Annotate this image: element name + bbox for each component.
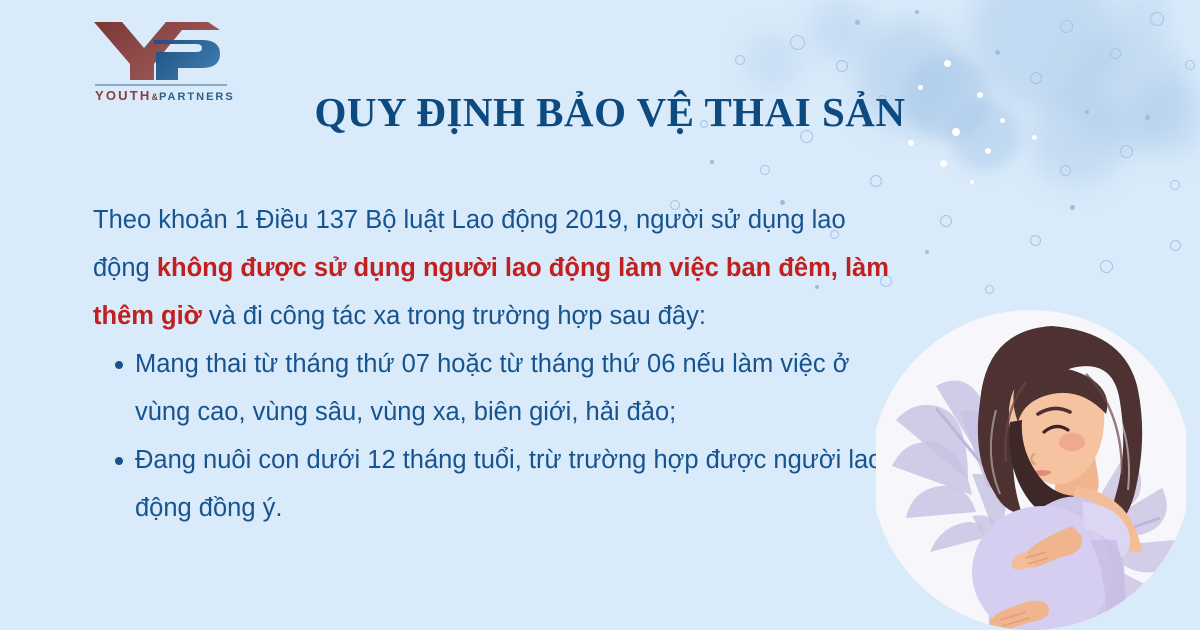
list-item-label: Đang nuôi con dưới 12 tháng tuổi, trừ tr… (135, 446, 882, 522)
list-item: Đang nuôi con dưới 12 tháng tuổi, trừ tr… (93, 436, 893, 532)
intro-paragraph: Theo khoản 1 Điều 137 Bộ luật Lao động 2… (93, 196, 893, 340)
pregnant-woman-illustration (876, 290, 1186, 630)
bullet-icon (115, 361, 123, 369)
logo-divider (95, 84, 227, 86)
logo-wordmark-youth: YOUTH (95, 88, 152, 103)
logo-wordmark-amp: & (152, 92, 160, 102)
bullet-icon (115, 457, 123, 465)
intro-text-part2: và đi công tác xa trong trường hợp sau đ… (202, 302, 706, 330)
list-item-label: Mang thai từ tháng thứ 07 hoặc từ tháng … (135, 350, 849, 426)
logo-wordmark: YOUTH&PARTNERS (95, 88, 235, 103)
conditions-list: Mang thai từ tháng thứ 07 hoặc từ tháng … (93, 340, 893, 532)
logo[interactable]: YOUTH&PARTNERS (92, 18, 242, 108)
yp-monogram-icon (92, 18, 232, 80)
page-title: QUY ĐỊNH BẢO VỆ THAI SẢN (290, 88, 930, 136)
list-item: Mang thai từ tháng thứ 07 hoặc từ tháng … (93, 340, 893, 436)
logo-wordmark-partners: PARTNERS (159, 91, 235, 103)
body-copy: Theo khoản 1 Điều 137 Bộ luật Lao động 2… (93, 196, 893, 532)
poster-canvas: YOUTH&PARTNERS QUY ĐỊNH BẢO VỆ THAI SẢN … (0, 0, 1200, 630)
